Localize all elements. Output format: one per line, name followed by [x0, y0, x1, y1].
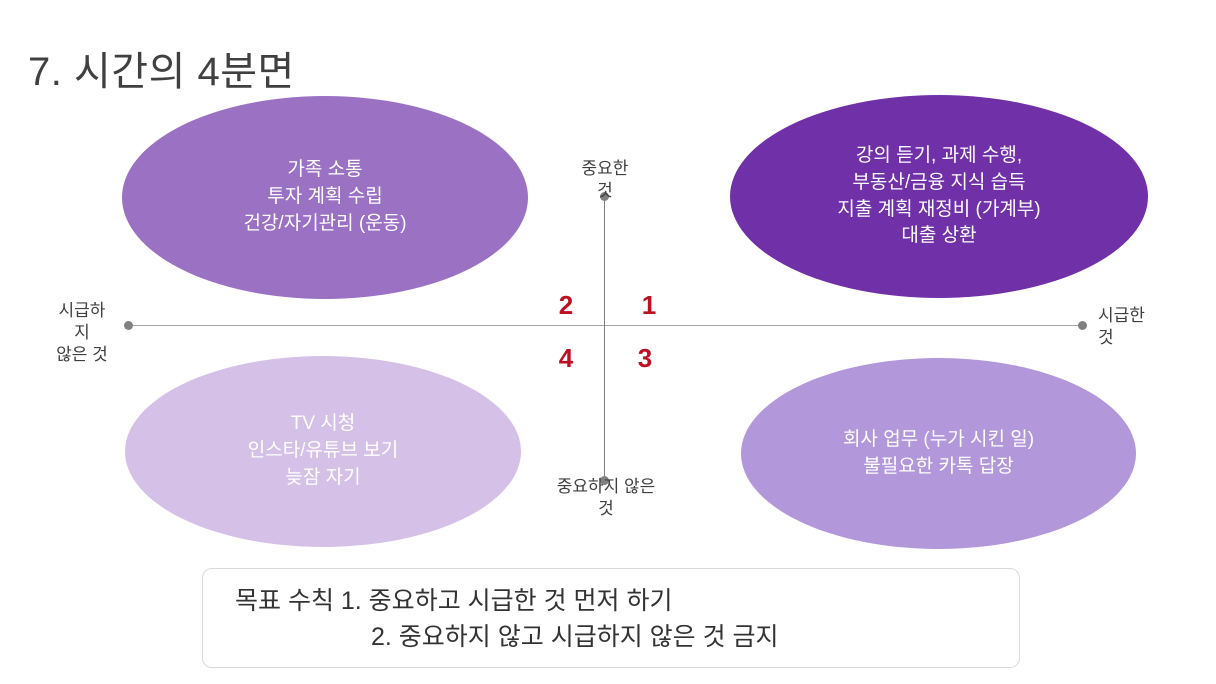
vertical-axis-line	[604, 196, 605, 480]
quadrant-number-1: 1	[636, 290, 662, 321]
quadrant-ellipse-2[interactable]: 가족 소통 투자 계획 수립 건강/자기관리 (운동)	[122, 96, 528, 299]
axis-endpoint-dot-left	[124, 321, 133, 330]
slide-canvas: 7. 시간의 4분면 중요한 것 중요하지 않은 것 시급하 지 않은 것 시급…	[0, 0, 1216, 684]
axis-label-not-urgent: 시급하 지 않은 것	[42, 300, 122, 365]
goal-rule-line-1: 목표 수칙 1. 중요하고 시급한 것 먼저 하기	[229, 583, 993, 619]
horizontal-axis-line	[128, 325, 1082, 326]
quadrant-number-2: 2	[553, 290, 579, 321]
axis-label-not-important: 중요하지 않은 것	[522, 476, 690, 520]
page-title: 7. 시간의 4분면	[28, 39, 295, 97]
axis-label-urgent: 시급한 것	[1098, 305, 1184, 349]
quadrant-number-3: 3	[632, 343, 658, 374]
quadrant-number-4: 4	[553, 343, 579, 374]
quadrant-ellipse-3[interactable]: 회사 업무 (누가 시킨 일) 불필요한 카톡 답장	[741, 358, 1136, 549]
goal-rule-line-2: 2. 중요하지 않고 시급하지 않은 것 금지	[229, 619, 993, 655]
goal-rules-box: 목표 수칙 1. 중요하고 시급한 것 먼저 하기 2. 중요하지 않고 시급하…	[202, 568, 1020, 668]
axis-endpoint-dot-right	[1078, 321, 1087, 330]
quadrant-ellipse-4[interactable]: TV 시청 인스타/유튜브 보기 늦잠 자기	[125, 356, 521, 547]
axis-label-important: 중요한 것	[545, 158, 665, 202]
quadrant-ellipse-1[interactable]: 강의 듣기, 과제 수행, 부동산/금융 지식 습득 지출 계획 재정비 (가계…	[730, 95, 1148, 298]
